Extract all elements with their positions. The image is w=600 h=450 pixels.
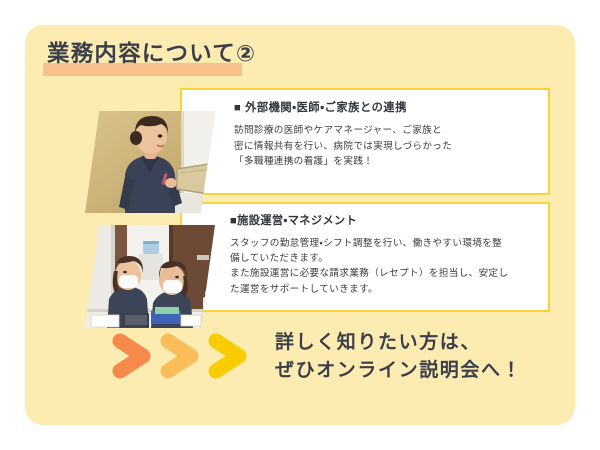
- card-paragraph-line: 訪問診療の医師やケアマネージャー、ご家族と: [234, 123, 536, 139]
- card-body: ■ 外部機関・医師・ご家族との連携 訪問診療の医師やケアマネージャー、ご家族と …: [182, 90, 548, 170]
- card-heading: ■施設運営・マネジメント: [230, 213, 538, 229]
- slide-root: 業務内容について② ■ 外部機関・医師・ご家族との連携 訪問診療の医師やケアマネ…: [0, 0, 600, 450]
- card-heading: ■ 外部機関・医師・ご家族との連携: [234, 100, 536, 116]
- card-paragraph-line: 密に情報共有を行い、病院では実現しづらかった: [234, 139, 536, 155]
- cta-line-1: 詳しく知りたい方は、: [275, 329, 522, 357]
- photo-nurse-with-clipboard: [85, 111, 215, 213]
- info-card-external-cooperation: ■ 外部機関・医師・ご家族との連携 訪問診療の医師やケアマネージャー、ご家族と …: [180, 88, 550, 195]
- page-title: 業務内容について②: [43, 38, 256, 78]
- card-body: ■施設運営・マネジメント スタッフの勤怠管理・シフト調整を行い、働きやすい環境を…: [182, 204, 548, 297]
- page-title-text: 業務内容について②: [43, 38, 256, 70]
- card-paragraph-line: た運営をサポートしていきます。: [230, 282, 538, 297]
- photo-staff-at-desk: [85, 225, 215, 328]
- cta-text: 詳しく知りたい方は、 ぜひオンライン説明会へ！: [275, 329, 522, 385]
- card-paragraph-line: 「多職種連携の看護」を実践！: [234, 154, 536, 170]
- cta-section: 詳しく知りたい方は、 ぜひオンライン説明会へ！: [85, 315, 545, 395]
- card-paragraph-line: スタッフの勤怠管理・シフト調整を行い、働きやすい環境を整: [230, 236, 538, 251]
- chevron-right-icon: [216, 341, 239, 371]
- cta-line-2: ぜひオンライン説明会へ！: [275, 357, 522, 385]
- chevron-right-icon: [168, 341, 191, 371]
- card-paragraph-line: また施設運営に必要な請求業務（レセプト）を担当し、安定し: [230, 266, 538, 281]
- chevron-arrows-group: [110, 332, 270, 380]
- chevron-right-icon: [120, 341, 143, 371]
- info-card-facility-management: ■施設運営・マネジメント スタッフの勤怠管理・シフト調整を行い、働きやすい環境を…: [180, 202, 550, 312]
- card-paragraph-line: 備していただきます。: [230, 251, 538, 266]
